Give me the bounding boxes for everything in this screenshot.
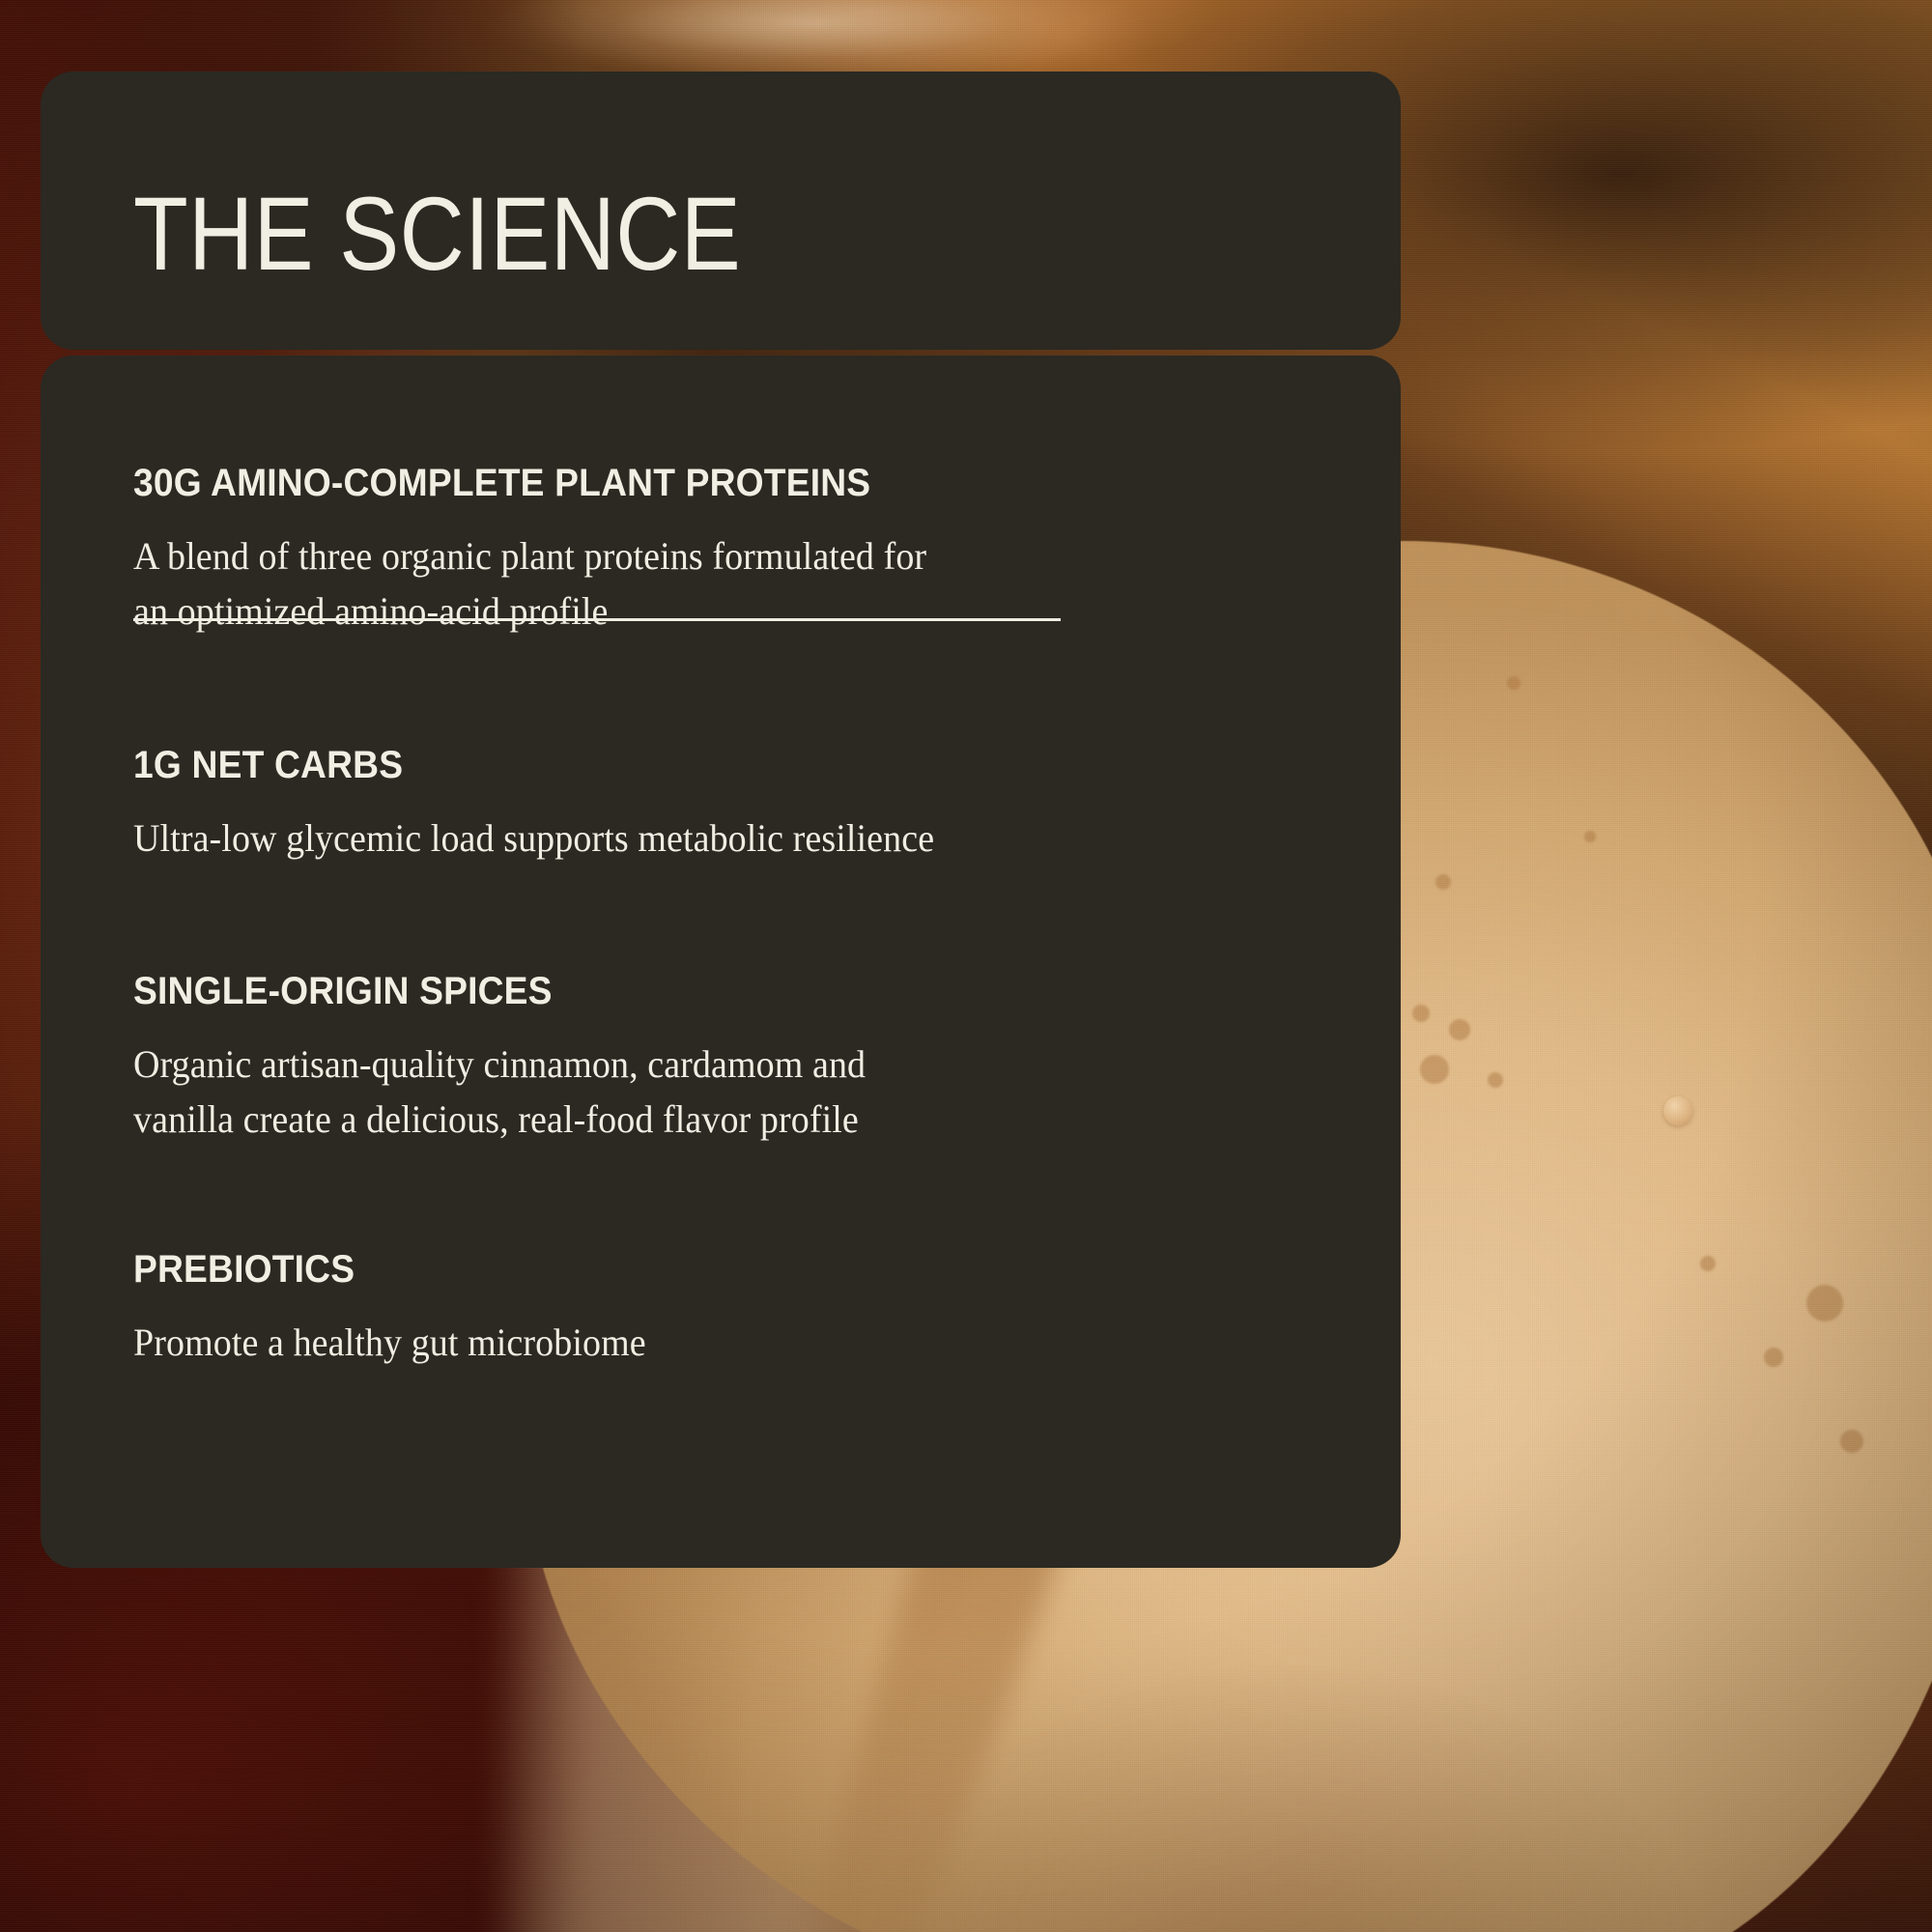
spacer xyxy=(133,866,1343,970)
bubble-cluster-i xyxy=(1700,1256,1716,1271)
benefit-heading: PREBIOTICS xyxy=(133,1248,1258,1291)
benefit-heading: 30G AMINO-COMPLETE PLANT PROTEINS xyxy=(133,462,1258,504)
bubble-cluster-n xyxy=(1584,831,1596,842)
bubble-cluster-g xyxy=(1806,1285,1843,1321)
spacer xyxy=(133,1148,1343,1248)
page-title: THE SCIENCE xyxy=(133,178,741,291)
bubble-cluster-m xyxy=(1507,676,1520,690)
benefits-card: 30G AMINO-COMPLETE PLANT PROTEINS A blen… xyxy=(41,355,1401,1568)
benefit-heading: SINGLE-ORIGIN SPICES xyxy=(133,970,1258,1012)
bubble-cluster-r xyxy=(1840,1430,1863,1453)
droplet-tiny-mid xyxy=(1663,1096,1692,1125)
benefit-body: A blend of three organic plant proteins … xyxy=(133,529,941,639)
benefit-heading: 1G NET CARBS xyxy=(133,744,1258,786)
bubble-cluster-o xyxy=(1435,874,1451,890)
benefit-body: Promote a healthy gut microbiome xyxy=(133,1316,941,1371)
benefit-body: Organic artisan-quality cinnamon, cardam… xyxy=(133,1037,941,1148)
benefit-item-prebiotics: PREBIOTICS Promote a healthy gut microbi… xyxy=(133,1248,1343,1371)
header-card: THE SCIENCE xyxy=(41,71,1401,350)
bubble-cluster-h xyxy=(1764,1348,1783,1367)
benefit-item-protein: 30G AMINO-COMPLETE PLANT PROTEINS A blen… xyxy=(133,462,1343,639)
benefits-list: 30G AMINO-COMPLETE PLANT PROTEINS A blen… xyxy=(133,462,1343,1371)
benefit-body: Ultra-low glycemic load supports metabol… xyxy=(133,811,941,867)
benefit-item-spices: SINGLE-ORIGIN SPICES Organic artisan-qua… xyxy=(133,970,1343,1148)
bubble-cluster-b xyxy=(1412,1005,1430,1022)
bubble-cluster-e xyxy=(1488,1072,1503,1088)
bubble-cluster-d xyxy=(1420,1055,1449,1084)
benefit-item-net-carbs: 1G NET CARBS Ultra-low glycemic load sup… xyxy=(133,744,1343,867)
marketing-hero-panel: THE SCIENCE 30G AMINO-COMPLETE PLANT PRO… xyxy=(0,0,1932,1932)
bubble-cluster-c xyxy=(1449,1019,1470,1040)
spacer xyxy=(133,639,1343,744)
